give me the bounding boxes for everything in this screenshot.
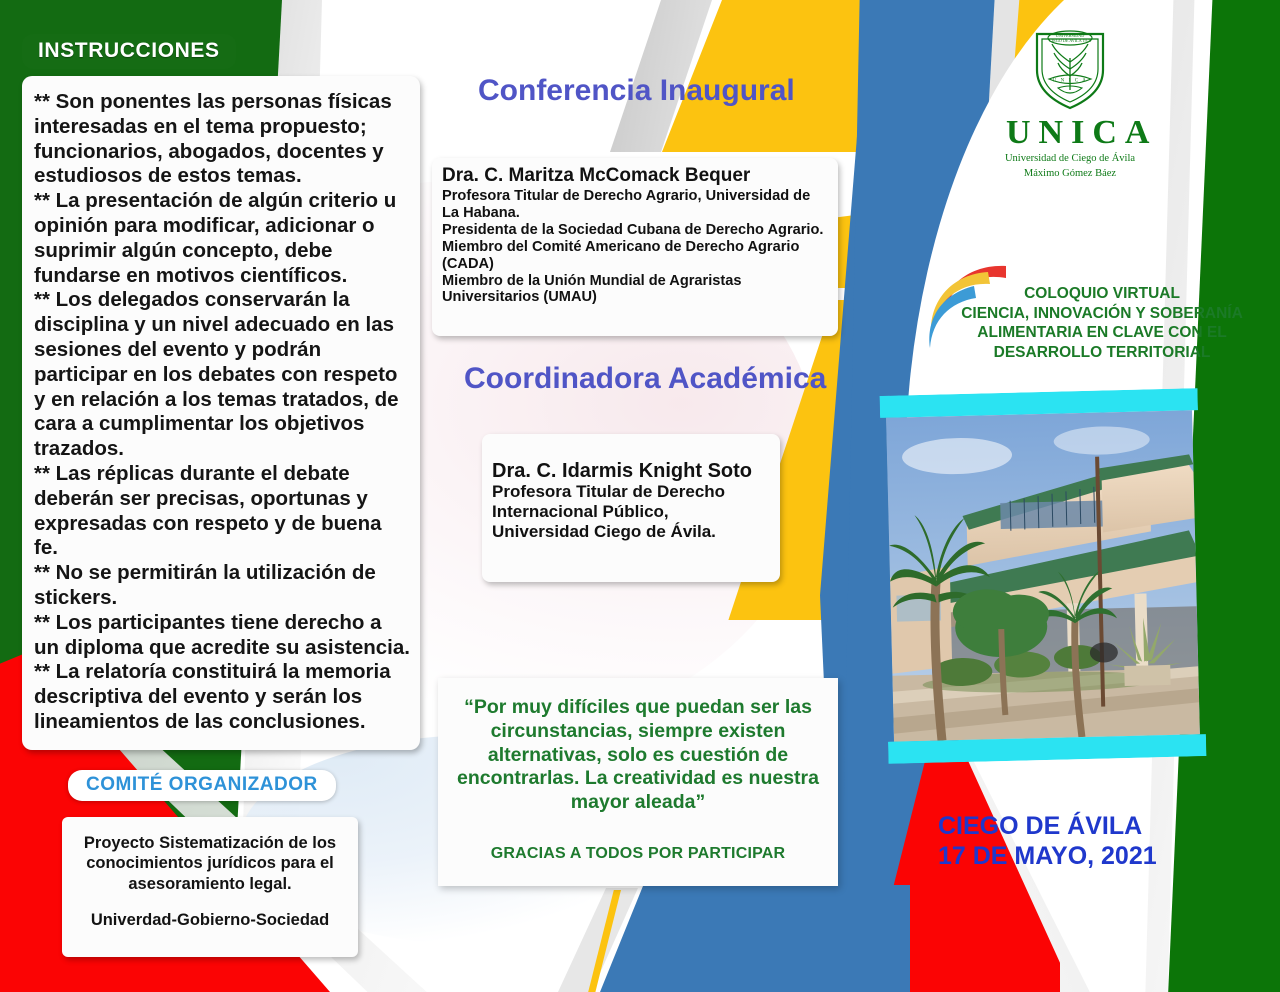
instruction-item: ** No se permitirán la utilización de st… — [34, 561, 410, 611]
committee-project-text: Proyecto Sistematización de los conocimi… — [76, 833, 344, 894]
poster-canvas: INSTRUCCIONES ** Son ponentes las person… — [0, 0, 1280, 992]
colloquium-line: DESARROLLO TERRITORIAL — [952, 343, 1252, 363]
speaker-detail: Miembro del Comité Americano de Derecho … — [442, 239, 828, 273]
unica-logo: UNIVERSIDAD CIEGO DE AVILA 1978 U N I C … — [1000, 22, 1140, 180]
unica-subtitle-2: Máximo Gómez Báez — [1000, 167, 1140, 180]
thanks-text: GRACIAS A TODOS POR PARTICIPAR — [452, 845, 824, 863]
instructions-panel: ** Son ponentes las personas físicas int… — [22, 76, 420, 750]
committee-partners-text: Univerdad-Gobierno-Sociedad — [76, 910, 344, 930]
instruction-item: ** La presentación de algún criterio u o… — [34, 189, 410, 288]
instruction-item: ** Son ponentes las personas físicas int… — [34, 90, 410, 189]
colloquium-line: CIENCIA, INNOVACIÓN Y SOBERANÍA — [952, 304, 1252, 324]
coordinator-name: Dra. C. Idarmis Knight Soto — [492, 460, 772, 482]
quote-text: “Por muy difíciles que puedan ser las ci… — [452, 696, 824, 815]
instructions-title: INSTRUCCIONES — [38, 39, 220, 62]
coordinator-detail: Internacional Público, — [492, 502, 772, 522]
speaker-detail: Presidenta de la Sociedad Cubana de Dere… — [442, 222, 828, 239]
committee-panel: Proyecto Sistematización de los conocimi… — [62, 817, 358, 957]
committee-title: COMITÉ ORGANIZADOR — [86, 774, 318, 795]
spacer — [76, 894, 344, 910]
colloquium-line: ALIMENTARIA EN CLAVE CON EL — [952, 323, 1252, 343]
conferencia-inaugural-heading: Conferencia Inaugural — [478, 74, 795, 108]
colloquium-title: COLOQUIO VIRTUAL CIENCIA, INNOVACIÓN Y S… — [952, 284, 1252, 363]
instruction-item: ** Los participantes tiene derecho a un … — [34, 611, 410, 661]
event-place: CIEGO DE ÁVILA — [938, 812, 1157, 842]
speaker-name: Dra. C. Maritza McComack Bequer — [442, 166, 828, 187]
instruction-item: ** La relatoría constituirá la memoria d… — [34, 660, 410, 734]
coordinadora-academica-heading: Coordinadora Académica — [464, 362, 826, 396]
speaker-detail: Miembro de la Unión Mundial de Agrarista… — [442, 273, 828, 307]
quote-panel: “Por muy difíciles que puedan ser las ci… — [438, 678, 838, 886]
campus-photo-frame — [880, 388, 1207, 764]
unica-subtitle-1: Universidad de Ciego de Ávila — [1000, 152, 1140, 165]
colloquium-line: COLOQUIO VIRTUAL — [952, 284, 1252, 304]
event-location-date: CIEGO DE ÁVILA 17 DE MAYO, 2021 — [938, 812, 1157, 871]
unica-wordmark: UNICA — [1006, 116, 1140, 150]
committee-title-badge: COMITÉ ORGANIZADOR — [68, 770, 336, 801]
speaker-detail: Profesora Titular de Derecho Agrario, Un… — [442, 188, 828, 222]
coordinator-detail: Profesora Titular de Derecho — [492, 482, 772, 502]
instruction-item: ** Las réplicas durante el debate deberá… — [34, 462, 410, 561]
instructions-title-badge: INSTRUCCIONES — [22, 34, 236, 69]
speaker-card-inaugural: Dra. C. Maritza McComack Bequer Profesor… — [432, 158, 838, 336]
svg-text:CIEGO DE AVILA 1978: CIEGO DE AVILA 1978 — [1049, 38, 1091, 43]
svg-text:U N I C A: U N I C A — [1053, 79, 1088, 84]
event-date: 17 DE MAYO, 2021 — [938, 842, 1157, 872]
instruction-item: ** Los delegados conservarán la discipli… — [34, 288, 410, 462]
campus-photo-illustration — [886, 410, 1200, 741]
speaker-card-coordinator: Dra. C. Idarmis Knight Soto Profesora Ti… — [482, 434, 780, 582]
campus-photo — [886, 410, 1200, 741]
coordinator-detail: Universidad Ciego de Ávila. — [492, 522, 772, 542]
university-crest-icon: UNIVERSIDAD CIEGO DE AVILA 1978 U N I C … — [1027, 22, 1113, 114]
